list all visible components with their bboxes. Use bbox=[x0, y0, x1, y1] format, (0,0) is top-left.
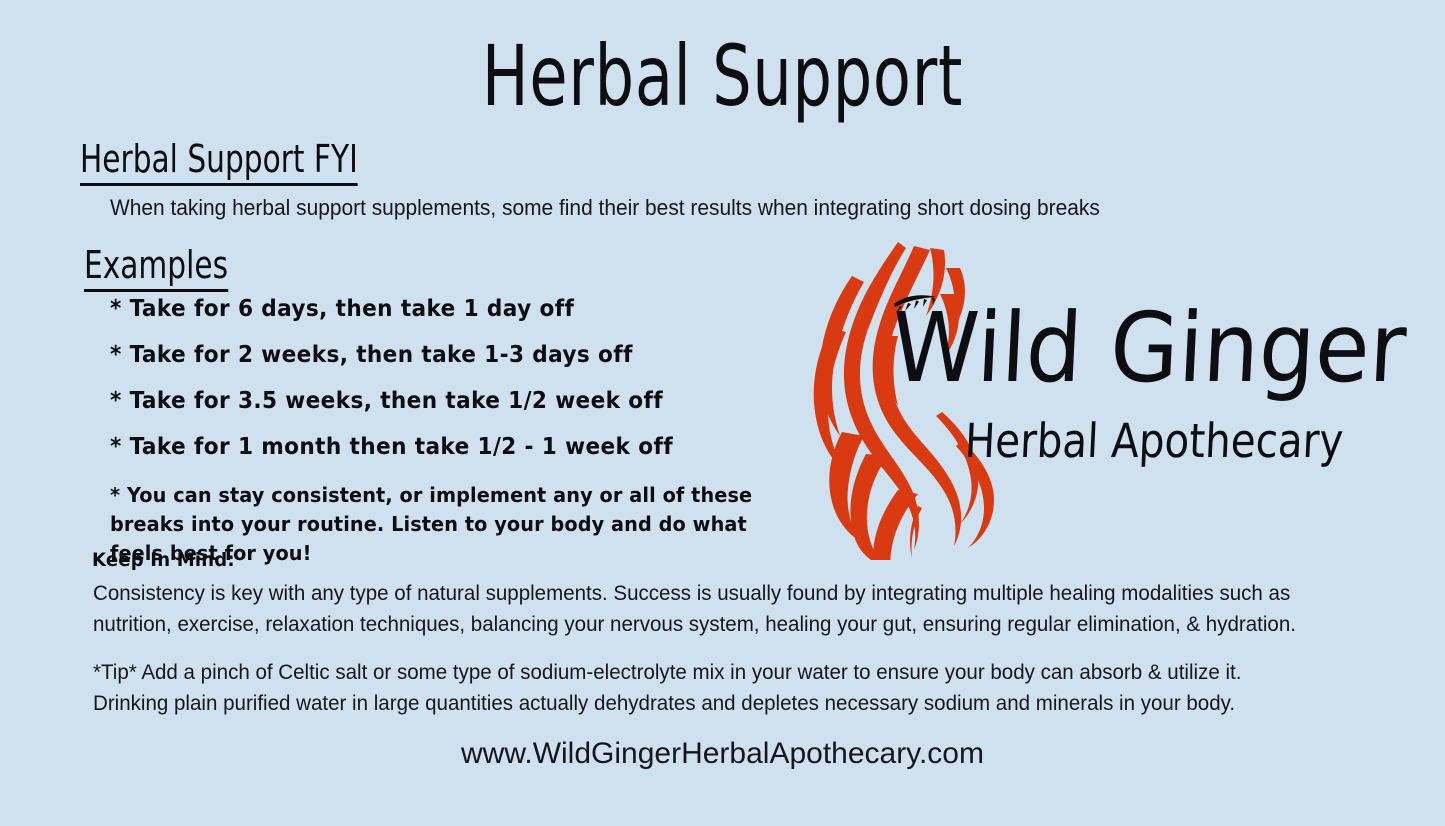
examples-list: * Take for 6 days, then take 1 day off *… bbox=[110, 296, 870, 568]
paragraph-line: Drinking plain purified water in large q… bbox=[93, 688, 1304, 719]
list-item: * Take for 1 month then take 1/2 - 1 wee… bbox=[110, 434, 824, 461]
list-item: * Take for 3.5 weeks, then take 1/2 week… bbox=[110, 388, 824, 415]
website-url[interactable]: www.WildGingerHerbalApothecary.com bbox=[0, 737, 1445, 771]
brand-logo: Wild Ginger Herbal Apothecary bbox=[806, 240, 1346, 560]
tip-paragraph: *Tip* Add a pinch of Celtic salt or some… bbox=[93, 657, 1304, 719]
list-item: * Take for 2 weeks, then take 1-3 days o… bbox=[110, 342, 824, 369]
keep-in-mind-paragraph: Consistency is key with any type of natu… bbox=[93, 578, 1304, 640]
fyi-intro-text: When taking herbal support supplements, … bbox=[110, 194, 1100, 222]
section-heading-examples-text: Examples bbox=[84, 246, 228, 292]
keep-in-mind-heading: Keep In Mind: bbox=[92, 549, 235, 571]
paragraph-line: nutrition, exercise, relaxation techniqu… bbox=[93, 609, 1304, 640]
list-item: * Take for 6 days, then take 1 day off bbox=[110, 296, 824, 323]
paragraph-line: *Tip* Add a pinch of Celtic salt or some… bbox=[93, 657, 1304, 688]
brand-name: Wild Ginger bbox=[889, 300, 1408, 396]
section-heading-fyi: Herbal Support FYI bbox=[80, 140, 358, 186]
section-heading-fyi-text: Herbal Support FYI bbox=[80, 140, 358, 186]
page-title: Herbal Support bbox=[188, 34, 1257, 118]
section-heading-examples: Examples bbox=[84, 246, 228, 292]
flyer-canvas: Herbal Support Herbal Support FYI When t… bbox=[0, 0, 1445, 826]
brand-tagline: Herbal Apothecary bbox=[964, 418, 1344, 465]
paragraph-line: Consistency is key with any type of natu… bbox=[93, 578, 1304, 609]
